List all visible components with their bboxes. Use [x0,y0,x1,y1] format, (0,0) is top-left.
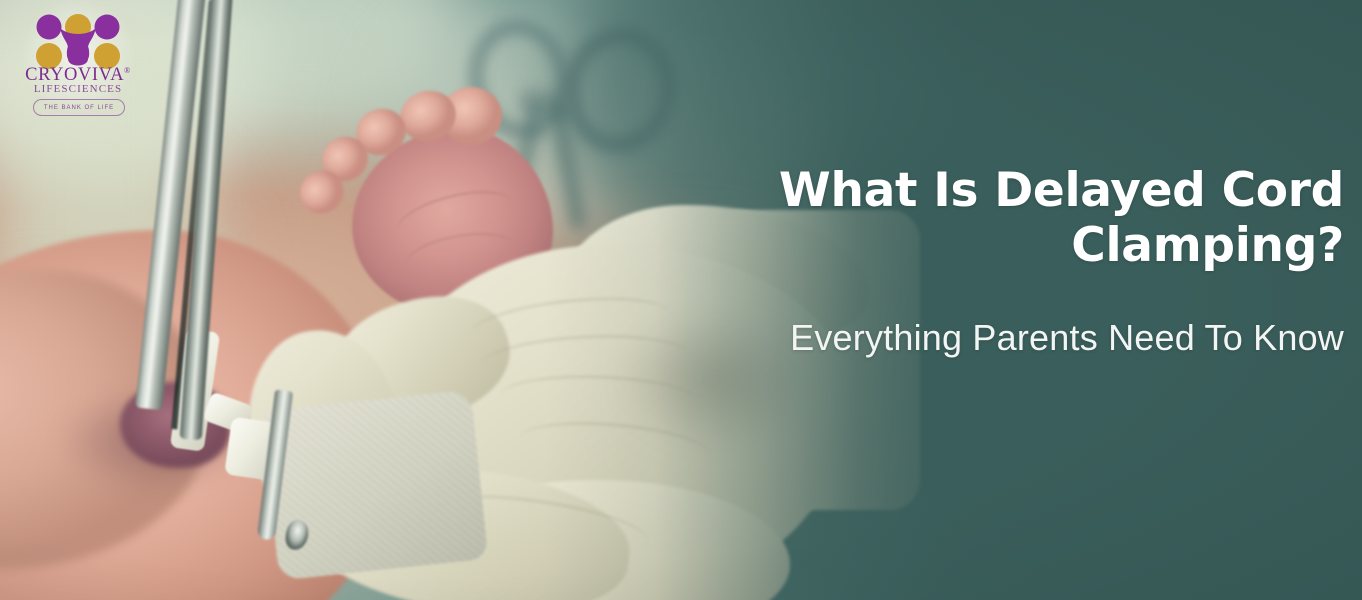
logo-brand-text: CRYOVIVA [25,65,124,85]
page-subtitle: Everything Parents Need To Know [684,274,1344,359]
cryoviva-logo[interactable]: CRYOVIVA® LIFESCIENCES THE BANK OF LIFE [22,6,134,118]
registered-mark-icon: ® [124,66,131,75]
hero-banner: CRYOVIVA® LIFESCIENCES THE BANK OF LIFE … [0,0,1362,600]
page-title: What Is Delayed Cord Clamping? [684,163,1344,274]
logo-brand-sub: LIFESCIENCES [22,84,134,95]
logo-tagline: THE BANK OF LIFE [33,99,125,116]
cryoviva-family-logo-mark [36,14,120,70]
headline-line-1: What Is Delayed Cord [779,163,1344,218]
logo-brand-name: CRYOVIVA® [22,66,134,85]
headline-line-2: Clamping? [1071,218,1344,273]
hero-text-block: What Is Delayed Cord Clamping? Everythin… [684,163,1344,359]
